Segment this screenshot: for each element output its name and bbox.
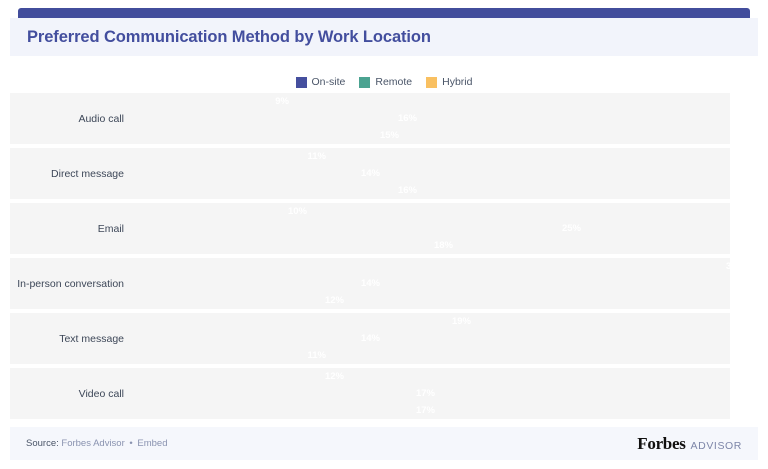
chart-group-row: In-person conversation34%14%12% [10,258,750,309]
bar-hybrid[interactable]: 11% [130,347,331,364]
source-prefix: Source: [26,438,59,449]
bar-value-label: 14% [361,165,385,182]
category-label: In-person conversation [10,258,127,309]
category-label: Direct message [10,148,127,199]
bar-value-label: 16% [398,182,422,199]
bar-on-site[interactable]: 9% [130,93,294,110]
bar-hybrid[interactable]: 17% [130,402,440,419]
source-note: Source: Forbes Advisor • Embed [26,438,167,449]
legend-item-on-site[interactable]: On-site [296,76,346,88]
forbes-advisor-logo: Forbes ADVISOR [637,434,742,454]
bar-group: 12%17%17% [130,368,750,419]
bar-remote[interactable]: 14% [130,275,385,292]
bar-group: 9%16%15% [130,93,750,144]
legend-label: Hybrid [442,76,472,88]
category-label: Video call [10,368,127,419]
bar-value-label: 12% [325,292,349,309]
bar-value-label: 14% [361,275,385,292]
bar-value-label: 34% [726,258,750,275]
bar-remote[interactable]: 16% [130,110,422,127]
legend-swatch-icon [359,77,370,88]
chart-group-row: Audio call9%16%15% [10,93,750,144]
bar-value-label: 9% [275,93,294,110]
top-accent-bar [18,8,750,18]
bar-remote[interactable]: 14% [130,165,385,182]
bar-remote[interactable]: 17% [130,385,440,402]
chart-group-row: Video call12%17%17% [10,368,750,419]
bar-on-site[interactable]: 10% [130,203,312,220]
bar-hybrid[interactable]: 16% [130,182,422,199]
bar-value-label: 12% [325,368,349,385]
bar-hybrid[interactable]: 18% [130,237,458,254]
chart-footer: Source: Forbes Advisor • Embed Forbes AD… [10,427,758,460]
chart-group-row: Email10%25%18% [10,203,750,254]
bar-value-label: 10% [288,203,312,220]
bar-hybrid[interactable]: 12% [130,292,349,309]
chart-group-row: Direct message11%14%16% [10,148,750,199]
bar-hybrid[interactable]: 15% [130,127,404,144]
chart-plot-area: Audio call9%16%15%Direct message11%14%16… [10,93,750,423]
bar-remote[interactable]: 25% [130,220,586,237]
legend-swatch-icon [296,77,307,88]
bar-remote[interactable]: 14% [130,330,385,347]
bar-on-site[interactable]: 12% [130,368,349,385]
chart-legend: On-siteRemoteHybrid [0,76,768,88]
bar-value-label: 25% [562,220,586,237]
bar-on-site[interactable]: 34% [130,258,750,275]
chart-card: Preferred Communication Method by Work L… [0,0,768,469]
bar-value-label: 19% [452,313,476,330]
legend-item-remote[interactable]: Remote [359,76,412,88]
bar-value-label: 16% [398,110,422,127]
brand-suffix: ADVISOR [691,440,742,452]
bar-group: 10%25%18% [130,203,750,254]
category-label: Text message [10,313,127,364]
legend-label: On-site [312,76,346,88]
bar-group: 34%14%12% [130,258,750,309]
category-label: Audio call [10,93,127,144]
bar-on-site[interactable]: 19% [130,313,476,330]
bar-value-label: 18% [434,237,458,254]
legend-swatch-icon [426,77,437,88]
chart-group-row: Text message19%14%11% [10,313,750,364]
bar-group: 11%14%16% [130,148,750,199]
bar-value-label: 11% [308,148,332,165]
source-link[interactable]: Forbes Advisor [61,438,124,449]
bar-value-label: 15% [380,127,404,144]
legend-item-hybrid[interactable]: Hybrid [426,76,472,88]
bar-group: 19%14%11% [130,313,750,364]
legend-label: Remote [375,76,412,88]
embed-link[interactable]: Embed [137,438,167,449]
brand-name: Forbes [637,434,685,454]
bar-value-label: 17% [416,402,440,419]
bar-value-label: 17% [416,385,440,402]
page-title: Preferred Communication Method by Work L… [27,28,431,47]
bar-on-site[interactable]: 11% [130,148,331,165]
bar-value-label: 14% [361,330,385,347]
source-separator: • [127,438,134,449]
bar-value-label: 11% [308,347,332,364]
category-label: Email [10,203,127,254]
chart-header: Preferred Communication Method by Work L… [10,18,758,56]
